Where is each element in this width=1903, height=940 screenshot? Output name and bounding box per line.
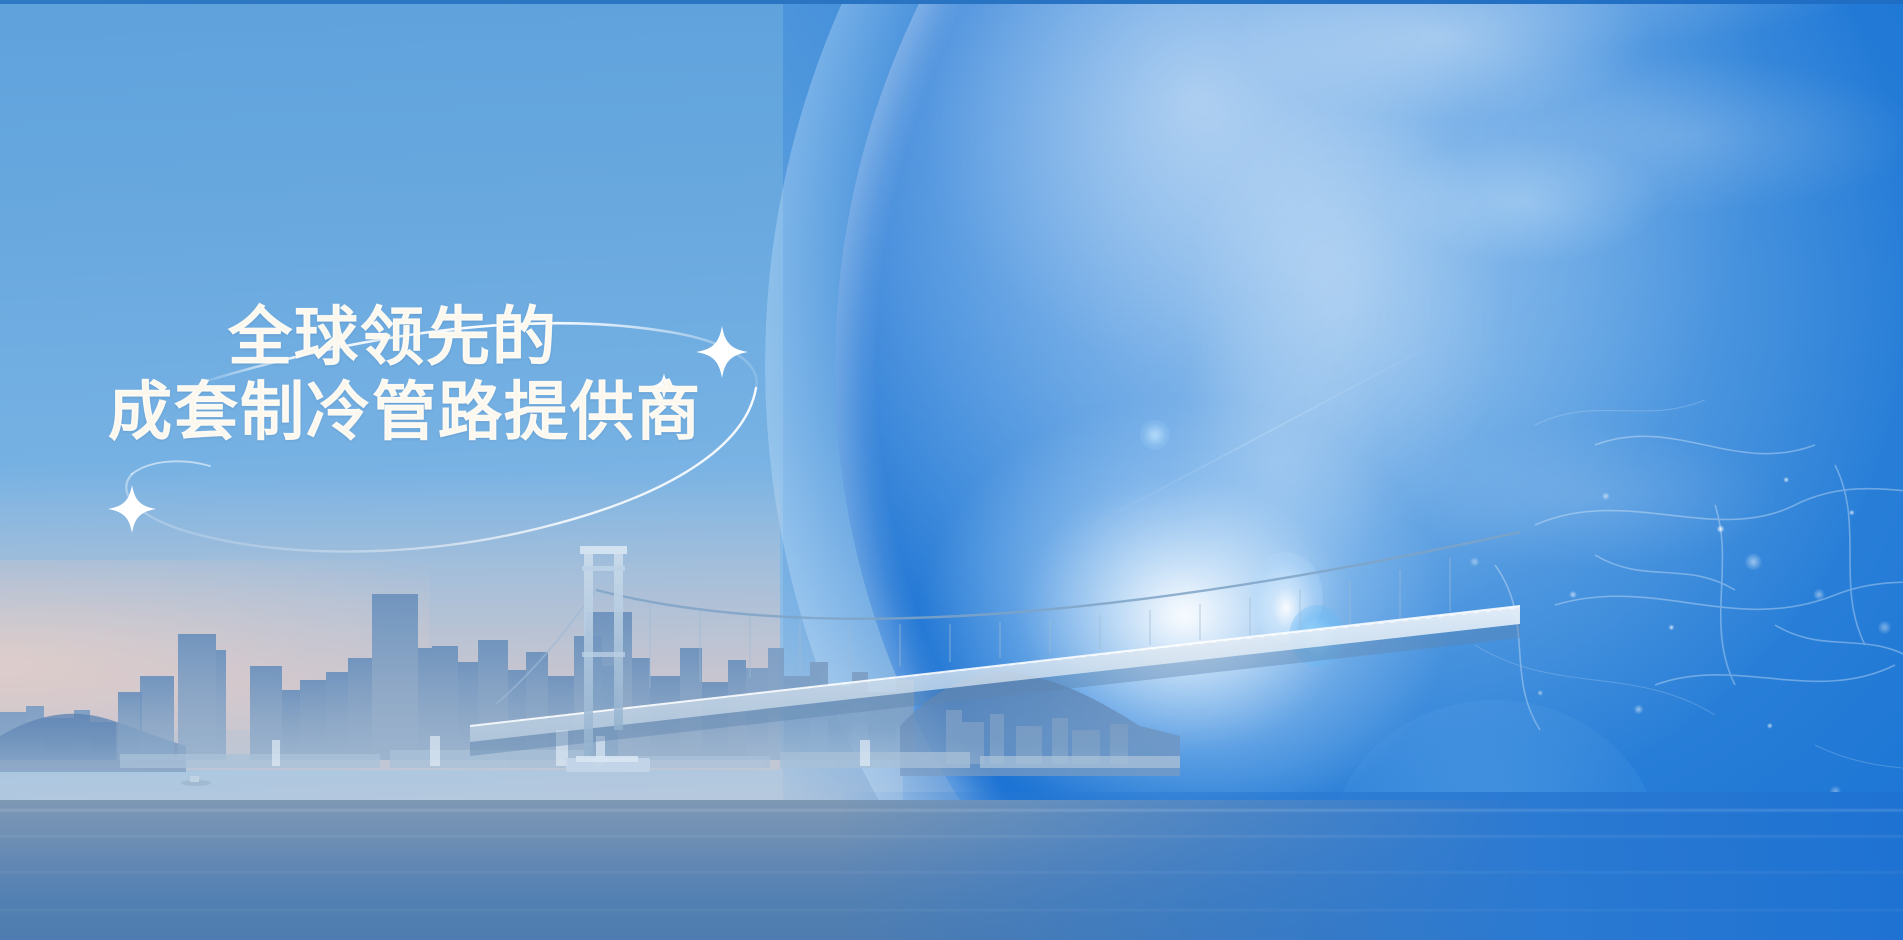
sparkle-top-icon	[696, 326, 748, 378]
hero-banner: 全球领先的 成套制冷管路提供商	[0, 0, 1903, 940]
sparkle-left-icon	[108, 485, 156, 533]
page-title: 全球领先的 成套制冷管路提供商	[108, 300, 702, 450]
small-boat	[181, 776, 211, 786]
top-edge-bar	[0, 0, 1903, 4]
headline-line-2: 成套制冷管路提供商	[108, 375, 702, 450]
water-reflection-streaks	[0, 800, 1903, 940]
headline-line-1: 全球领先的	[108, 300, 702, 375]
